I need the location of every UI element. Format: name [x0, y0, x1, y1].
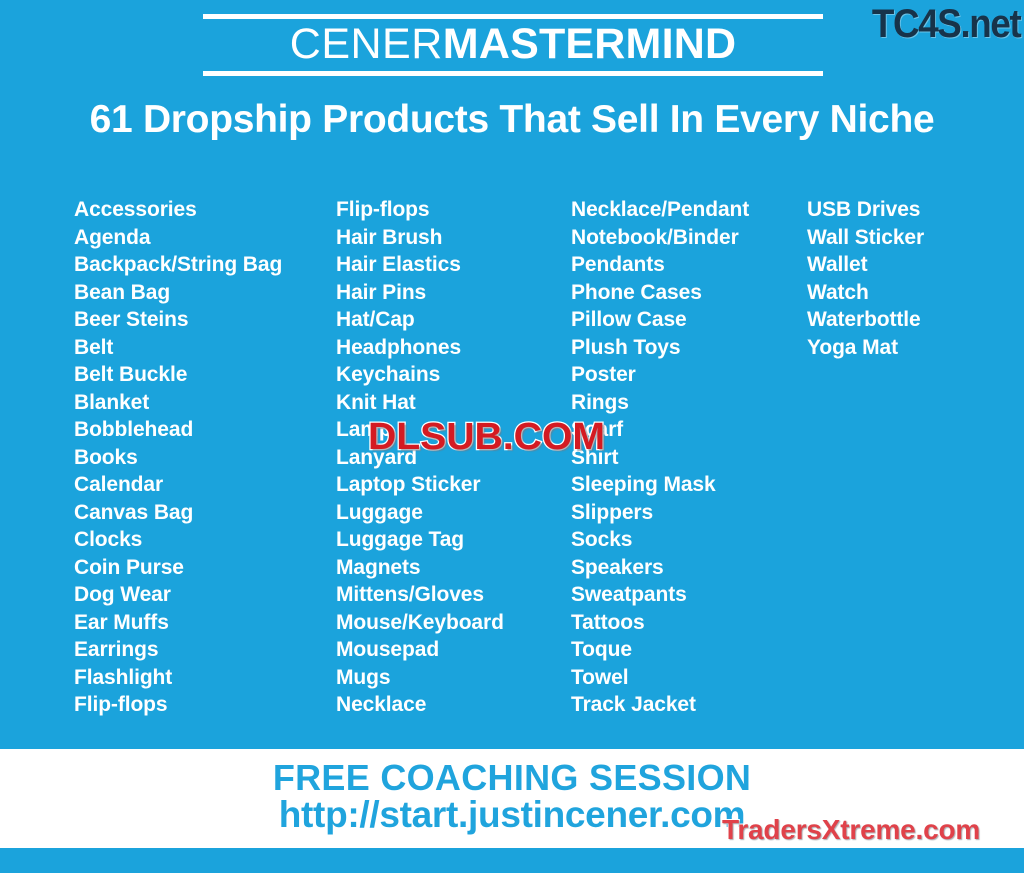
- list-item: Belt: [74, 334, 336, 362]
- page-title: 61 Dropship Products That Sell In Every …: [0, 99, 1024, 142]
- list-item: Wallet: [807, 251, 1007, 279]
- list-item: Bobblehead: [74, 416, 336, 444]
- header-block: CENERMASTERMIND: [0, 0, 1024, 95]
- list-item: Keychains: [336, 361, 571, 389]
- list-item: Pillow Case: [571, 306, 807, 334]
- list-item: Shirt: [571, 444, 807, 472]
- list-item: Hair Brush: [336, 224, 571, 252]
- product-column-4: USB Drives Wall Sticker Wallet Watch Wat…: [807, 196, 1007, 361]
- list-item: Necklace: [336, 691, 571, 719]
- brand-name-light: CENER: [290, 20, 443, 68]
- list-item: Track Jacket: [571, 691, 807, 719]
- list-item: Tattoos: [571, 609, 807, 637]
- list-item: Backpack/String Bag: [74, 251, 336, 279]
- list-item: Books: [74, 444, 336, 472]
- list-item: Slippers: [571, 499, 807, 527]
- list-item: Agenda: [74, 224, 336, 252]
- list-item: Waterbottle: [807, 306, 1007, 334]
- list-item: Yoga Mat: [807, 334, 1007, 362]
- list-item: Knit Hat: [336, 389, 571, 417]
- list-item: Notebook/Binder: [571, 224, 807, 252]
- list-item: Earrings: [74, 636, 336, 664]
- list-item: Speakers: [571, 554, 807, 582]
- list-item: Mittens/Gloves: [336, 581, 571, 609]
- brand-rule-bottom: [203, 71, 823, 76]
- list-item: Toque: [571, 636, 807, 664]
- list-item: Wall Sticker: [807, 224, 1007, 252]
- footer-cta-text: FREE COACHING SESSION: [0, 758, 1024, 798]
- list-item: Socks: [571, 526, 807, 554]
- brand-lockup: CENERMASTERMIND: [203, 14, 823, 76]
- list-item: Hair Pins: [336, 279, 571, 307]
- list-item: Hat/Cap: [336, 306, 571, 334]
- list-item: Pendants: [571, 251, 807, 279]
- list-item: Belt Buckle: [74, 361, 336, 389]
- list-item: Scarf: [571, 416, 807, 444]
- list-item: Accessories: [74, 196, 336, 224]
- list-item: Dog Wear: [74, 581, 336, 609]
- brand-name: CENERMASTERMIND: [203, 19, 823, 71]
- list-item: Mousepad: [336, 636, 571, 664]
- list-item: Ear Muffs: [74, 609, 336, 637]
- watermark-tc4s: TC4S.net: [872, 2, 1020, 47]
- list-item: Watch: [807, 279, 1007, 307]
- list-item: Poster: [571, 361, 807, 389]
- list-item: Luggage: [336, 499, 571, 527]
- watermark-tradersxtreme: TradersXtreme.com: [722, 816, 980, 844]
- list-item: Rings: [571, 389, 807, 417]
- list-item: Mugs: [336, 664, 571, 692]
- list-item: Towel: [571, 664, 807, 692]
- list-item: Luggage Tag: [336, 526, 571, 554]
- list-item: Mouse/Keyboard: [336, 609, 571, 637]
- infographic-poster: CENERMASTERMIND 61 Dropship Products Tha…: [0, 0, 1024, 873]
- product-column-1: Accessories Agenda Backpack/String Bag B…: [74, 196, 336, 719]
- list-item: Beer Steins: [74, 306, 336, 334]
- list-item: USB Drives: [807, 196, 1007, 224]
- list-item: Magnets: [336, 554, 571, 582]
- list-item: Headphones: [336, 334, 571, 362]
- list-item: Plush Toys: [571, 334, 807, 362]
- list-item: Sweatpants: [571, 581, 807, 609]
- list-item: Flip-flops: [336, 196, 571, 224]
- list-item: Sleeping Mask: [571, 471, 807, 499]
- list-item: Coin Purse: [74, 554, 336, 582]
- list-item: Bean Bag: [74, 279, 336, 307]
- watermark-dlsub: DLSUB.COM: [368, 418, 605, 456]
- brand-name-bold: MASTERMIND: [443, 20, 736, 68]
- list-item: Blanket: [74, 389, 336, 417]
- list-item: Flip-flops: [74, 691, 336, 719]
- list-item: Laptop Sticker: [336, 471, 571, 499]
- product-column-3: Necklace/Pendant Notebook/Binder Pendant…: [571, 196, 807, 719]
- list-item: Calendar: [74, 471, 336, 499]
- list-item: Phone Cases: [571, 279, 807, 307]
- list-item: Canvas Bag: [74, 499, 336, 527]
- list-item: Clocks: [74, 526, 336, 554]
- list-item: Necklace/Pendant: [571, 196, 807, 224]
- list-item: Flashlight: [74, 664, 336, 692]
- list-item: Hair Elastics: [336, 251, 571, 279]
